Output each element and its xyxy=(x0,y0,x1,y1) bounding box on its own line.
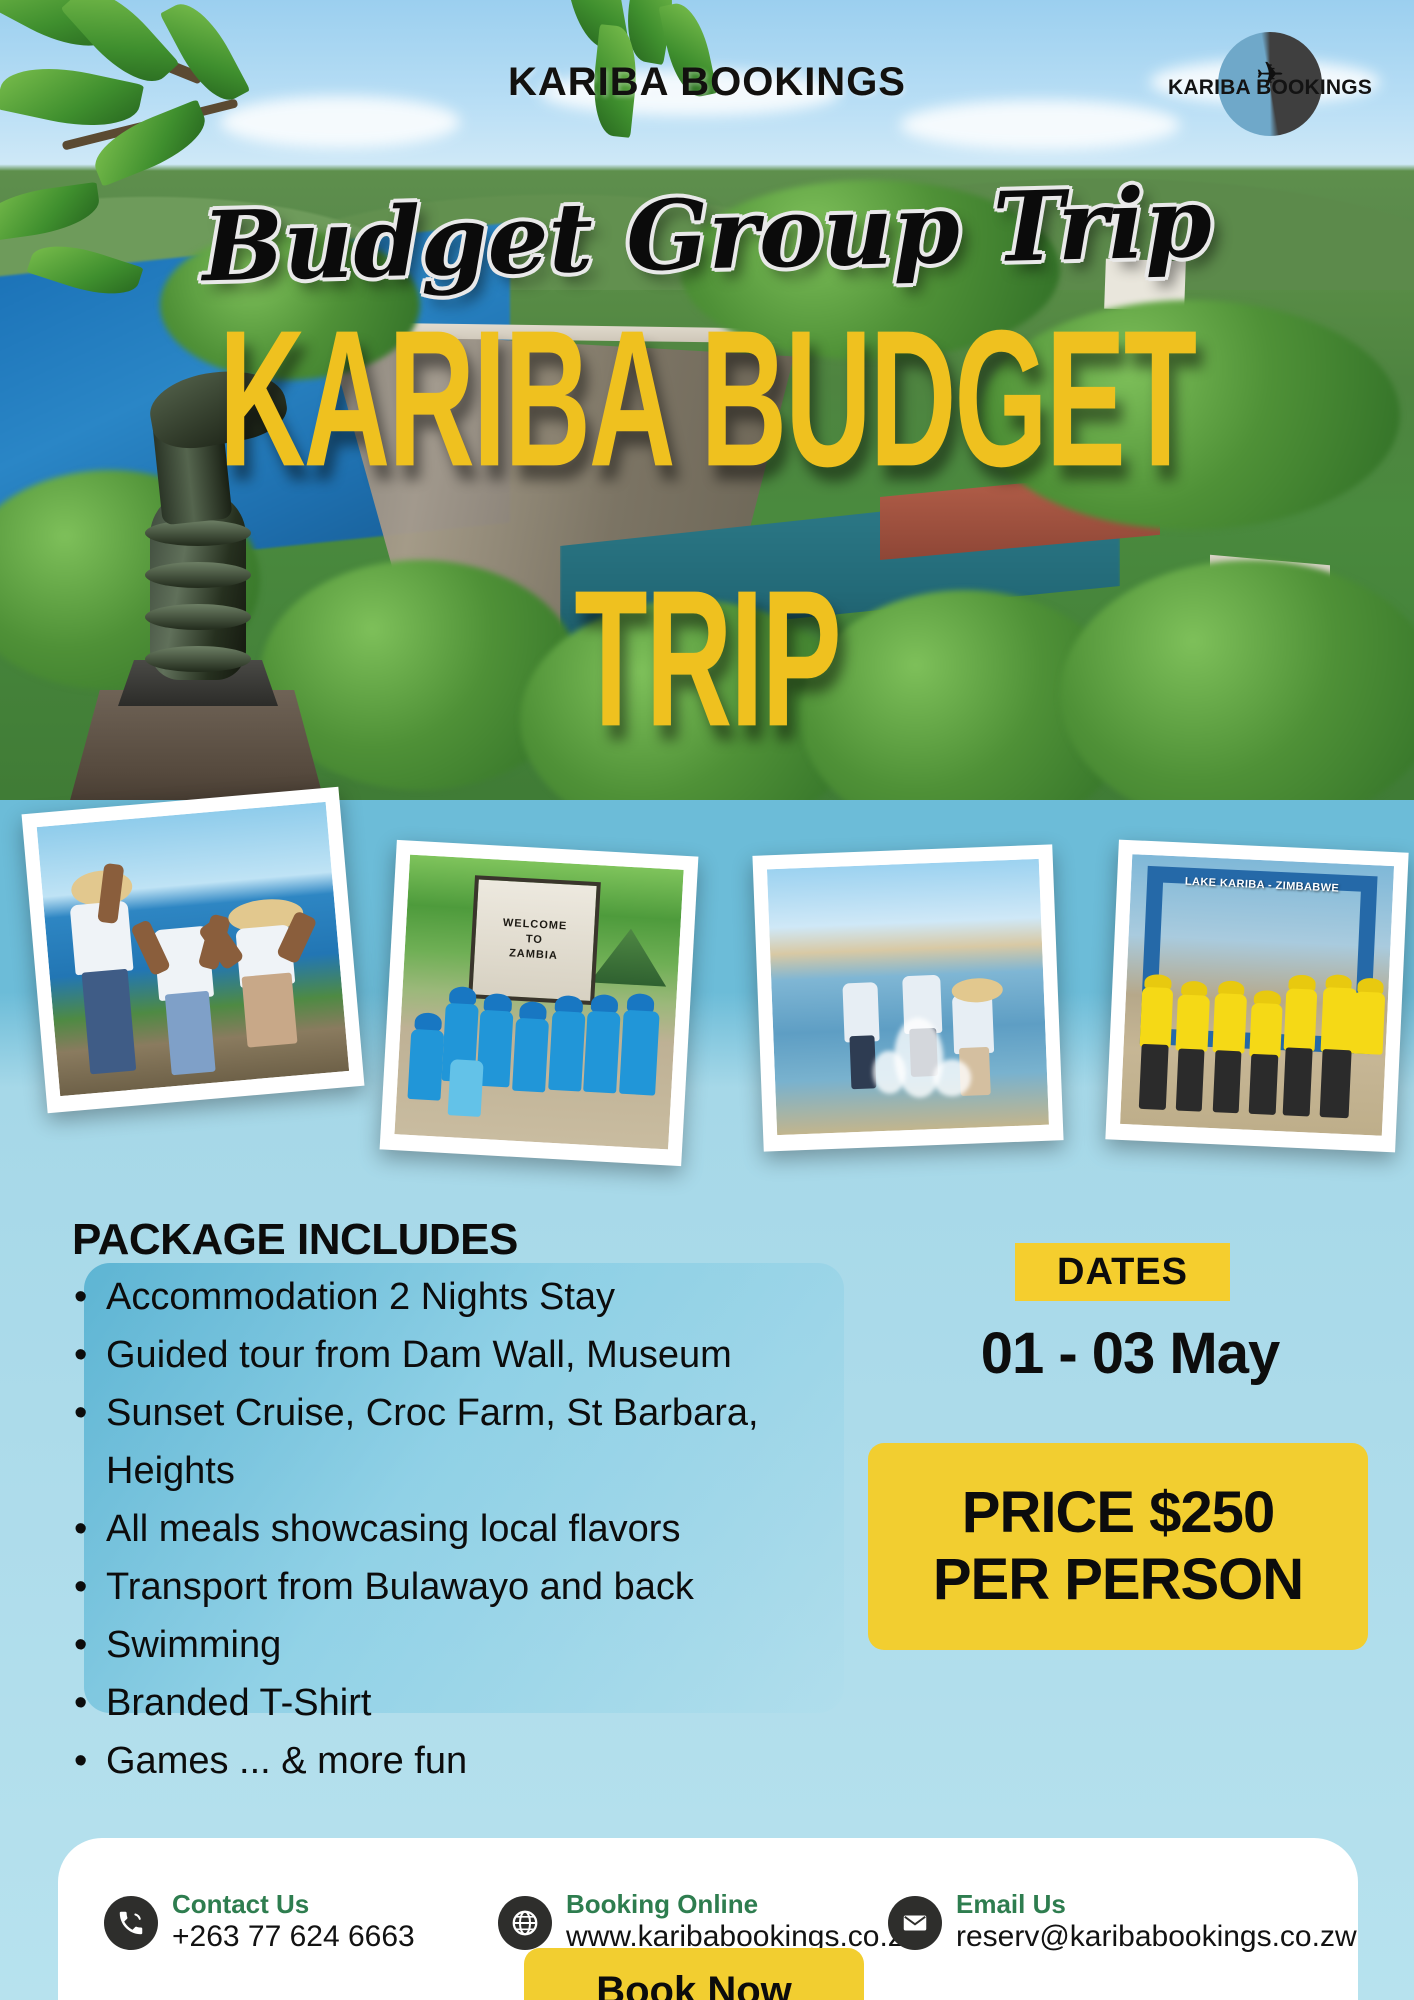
gallery-photo-lake-splash xyxy=(752,844,1063,1151)
contact-email[interactable]: Email Us reserv@karibabookings.co.zw xyxy=(888,1890,1357,1955)
headline-line-1: KARIBA BUDGET xyxy=(0,287,1414,511)
contact-phone[interactable]: Contact Us +263 77 624 6663 xyxy=(104,1890,415,1955)
contact-email-value: reserv@karibabookings.co.zw xyxy=(956,1920,1357,1953)
zambia-sign-line-3: ZAMBIA xyxy=(509,948,558,963)
list-item: Accommodation 2 Nights Stay xyxy=(62,1268,862,1326)
brand-logo: ✈ KARIBA BOOKINGS xyxy=(1164,28,1376,140)
phone-icon xyxy=(104,1896,158,1950)
contact-website-label: Booking Online xyxy=(566,1889,758,1919)
list-item: Swimming xyxy=(62,1616,862,1674)
headline-line-2: TRIP xyxy=(0,547,1414,771)
gallery-photo-lake-kariba-frame: LAKE KARIBA - ZIMBABWE xyxy=(1105,840,1408,1153)
contact-email-label: Email Us xyxy=(956,1889,1066,1919)
list-item: Games ... & more fun xyxy=(62,1732,862,1790)
zambia-sign-line-1: WELCOME xyxy=(503,917,568,933)
zambia-sign-line-2: TO xyxy=(525,934,543,947)
list-item: Branded T-Shirt xyxy=(62,1674,862,1732)
price-line-1: PRICE $250 xyxy=(962,1481,1274,1546)
gallery-photo-lake-viewpoint xyxy=(22,787,365,1114)
contact-website[interactable]: Booking Online www.karibabookings.co.zw xyxy=(498,1890,925,1955)
package-heading: PACKAGE INCLUDES xyxy=(72,1215,518,1265)
email-icon xyxy=(888,1896,942,1950)
poster: KARIBA BOOKINGS ✈ KARIBA BOOKINGS Budget… xyxy=(0,0,1414,2000)
dates-badge: DATES xyxy=(1015,1243,1230,1301)
package-list: Accommodation 2 Nights Stay Guided tour … xyxy=(62,1268,862,1790)
dates-value: 01 - 03 May xyxy=(965,1320,1295,1387)
book-now-button[interactable]: Book Now xyxy=(524,1948,864,2000)
price-box: PRICE $250 PER PERSON xyxy=(868,1443,1368,1650)
zambia-sign: WELCOME TO ZAMBIA xyxy=(468,875,601,1005)
gallery-photo-welcome-to-zambia: WELCOME TO ZAMBIA xyxy=(380,840,699,1166)
logo-text: KARIBA BOOKINGS xyxy=(1164,76,1376,100)
snake-coil xyxy=(145,520,251,546)
list-item: Transport from Bulawayo and back xyxy=(62,1558,862,1616)
list-item: Guided tour from Dam Wall, Museum xyxy=(62,1326,862,1384)
list-item: Sunset Cruise, Croc Farm, St Barbara, He… xyxy=(62,1384,862,1500)
list-item: All meals showcasing local flavors xyxy=(62,1500,862,1558)
contact-phone-label: Contact Us xyxy=(172,1889,309,1919)
contact-phone-value: +263 77 624 6663 xyxy=(172,1920,415,1953)
price-line-2: PER PERSON xyxy=(933,1548,1303,1613)
globe-icon xyxy=(498,1896,552,1950)
